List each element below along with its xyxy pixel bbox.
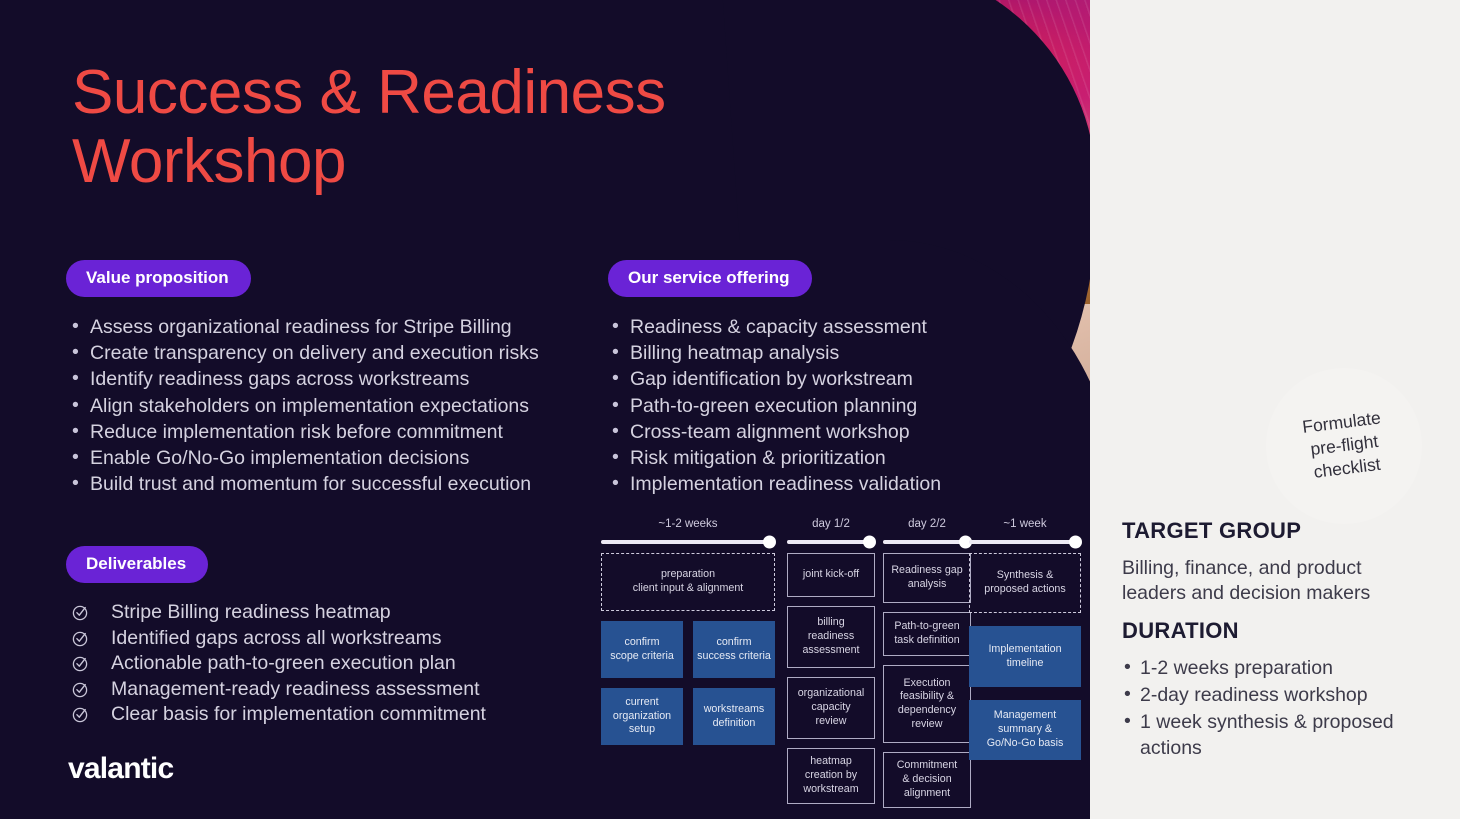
timeline-outline-box: Executionfeasibility &dependencyreview <box>883 665 971 743</box>
list-item: Risk mitigation & prioritization <box>612 445 941 471</box>
target-group-heading: TARGET GROUP <box>1122 518 1301 544</box>
timeline-dashed-box: Synthesis &proposed actions <box>969 553 1081 613</box>
timeline-outline-box: billingreadinessassessment <box>787 606 875 668</box>
timeline-column-body: Readiness gapanalysisPath-to-greentask d… <box>883 553 971 808</box>
timeline-box-label: Implementationtimeline <box>988 643 1061 670</box>
timeline-column-body: joint kick-offbillingreadinessassessment… <box>787 553 875 804</box>
list-item-label: Identified gaps across all workstreams <box>111 627 442 650</box>
timeline-filled-box: confirmsuccess criteria <box>693 621 775 678</box>
list-item: Billing heatmap analysis <box>612 340 941 366</box>
page-title-line-1: Success & Readiness <box>72 58 772 127</box>
timeline-column: day 1/2joint kick-offbillingreadinessass… <box>787 518 875 804</box>
timeline-outline-box: joint kick-off <box>787 553 875 597</box>
timeline-filled-box: confirmscope criteria <box>601 621 683 678</box>
timeline-box-label: heatmapcreation byworkstream <box>803 755 858 796</box>
check-circle-icon <box>72 630 89 647</box>
timeline-box-label: workstreamsdefinition <box>704 703 765 730</box>
timeline-box-label: Executionfeasibility &dependencyreview <box>898 677 956 732</box>
timeline-box-label: Readiness gapanalysis <box>891 564 962 591</box>
list-item: Management-ready readiness assessment <box>72 677 486 703</box>
check-circle-icon <box>72 706 89 723</box>
timeline-outline-box: Readiness gapanalysis <box>883 553 971 603</box>
timeline-phase-label: day 1/2 <box>787 518 875 534</box>
timeline-box-label: currentorganizationsetup <box>613 696 671 737</box>
timeline-outline-box: Path-to-greentask definition <box>883 612 971 656</box>
timeline-column: day 2/2Readiness gapanalysisPath-to-gree… <box>883 518 971 808</box>
list-item: Align stakeholders on implementation exp… <box>72 393 539 419</box>
list-item: Stripe Billing readiness heatmap <box>72 600 486 626</box>
list-item: Enable Go/No-Go implementation decisions <box>72 445 539 471</box>
timeline-filled-box: currentorganizationsetup <box>601 688 683 745</box>
timeline-milestone-dot <box>1069 536 1082 549</box>
duration-list: 1-2 weeks preparation2-day readiness wor… <box>1122 656 1422 763</box>
list-item: Readiness & capacity assessment <box>612 314 941 340</box>
timeline-diagram: ~1-2 weekspreparationclient input & alig… <box>601 518 1081 803</box>
timeline-phase-label: ~1-2 weeks <box>601 518 775 534</box>
deliverables-list: Stripe Billing readiness heatmapIdentifi… <box>72 600 486 728</box>
list-item-label: Stripe Billing readiness heatmap <box>111 601 391 624</box>
timeline-filled-box: workstreamsdefinition <box>693 688 775 745</box>
timeline-dashed-box: preparationclient input & alignment <box>601 553 775 611</box>
list-item: Implementation readiness validation <box>612 471 941 497</box>
timeline-outline-box: organizationalcapacityreview <box>787 677 875 739</box>
timeline-box-grid: confirmscope criteriaconfirmsuccess crit… <box>601 621 775 745</box>
list-item: 1 week synthesis & proposed actions <box>1122 710 1422 762</box>
timeline-box-label: confirmsuccess criteria <box>697 636 771 663</box>
list-item: Identified gaps across all workstreams <box>72 626 486 652</box>
page-title: Success & Readiness Workshop <box>72 58 772 197</box>
list-item: 2-day readiness workshop <box>1122 683 1422 709</box>
timeline-bar <box>969 540 1081 544</box>
timeline-box-label: Synthesis &proposed actions <box>984 569 1065 596</box>
duration-heading: DURATION <box>1122 618 1239 644</box>
list-item-label: Actionable path-to-green execution plan <box>111 652 456 675</box>
check-circle-icon <box>72 604 89 621</box>
list-item: Assess organizational readiness for Stri… <box>72 314 539 340</box>
list-item: Path-to-green execution planning <box>612 393 941 419</box>
target-group-text: Billing, finance, and product leaders an… <box>1122 556 1422 605</box>
timeline-bar <box>883 540 971 544</box>
list-item: Clear basis for implementation commitmen… <box>72 702 486 728</box>
list-item: Actionable path-to-green execution plan <box>72 651 486 677</box>
timeline-box-label: Managementsummary &Go/No-Go basis <box>987 709 1064 750</box>
deliverables-pill: Deliverables <box>66 546 208 583</box>
list-item: Build trust and momentum for successful … <box>72 471 539 497</box>
timeline-filled-box: Implementationtimeline <box>969 626 1081 687</box>
list-item-label: Management-ready readiness assessment <box>111 678 480 701</box>
list-item: Cross-team alignment workshop <box>612 419 941 445</box>
timeline-outline-box: heatmapcreation byworkstream <box>787 748 875 804</box>
timeline-bar <box>601 540 775 544</box>
timeline-phase-label: day 2/2 <box>883 518 971 534</box>
list-item: Reduce implementation risk before commit… <box>72 419 539 445</box>
valantic-logo: valantic <box>68 752 173 786</box>
timeline-box-label: billingreadinessassessment <box>802 616 859 657</box>
timeline-box-label: confirmscope criteria <box>610 636 674 663</box>
check-circle-icon <box>72 681 89 698</box>
list-item: Create transparency on delivery and exec… <box>72 340 539 366</box>
timeline-box-label: preparationclient input & alignment <box>633 568 744 595</box>
timeline-filled-box: Managementsummary &Go/No-Go basis <box>969 700 1081 760</box>
pre-flight-checklist-badge-text: Formulatepre-flightchecklist <box>1301 407 1388 485</box>
timeline-box-label: organizationalcapacityreview <box>798 687 865 728</box>
timeline-phase-label: ~1 week <box>969 518 1081 534</box>
timeline-outline-box: Commitment& decisionalignment <box>883 752 971 808</box>
pre-flight-checklist-badge: Formulatepre-flightchecklist <box>1266 368 1422 524</box>
timeline-column-body: preparationclient input & alignmentconfi… <box>601 553 775 745</box>
page-title-line-2: Workshop <box>72 127 772 196</box>
timeline-milestone-dot <box>763 536 776 549</box>
service-offering-list: Readiness & capacity assessmentBilling h… <box>612 314 941 498</box>
timeline-box-label: Commitment& decisionalignment <box>897 759 958 800</box>
timeline-column: ~1 weekSynthesis &proposed actionsImplem… <box>969 518 1081 760</box>
timeline-column: ~1-2 weekspreparationclient input & alig… <box>601 518 775 745</box>
timeline-box-label: Path-to-greentask definition <box>894 620 959 647</box>
timeline-box-label: joint kick-off <box>803 568 859 582</box>
timeline-bar <box>787 540 875 544</box>
timeline-column-body: Synthesis &proposed actionsImplementatio… <box>969 553 1081 760</box>
value-proposition-list: Assess organizational readiness for Stri… <box>72 314 539 498</box>
value-proposition-pill: Value proposition <box>66 260 251 297</box>
list-item: 1-2 weeks preparation <box>1122 656 1422 682</box>
timeline-milestone-dot <box>863 536 876 549</box>
list-item-label: Clear basis for implementation commitmen… <box>111 703 486 726</box>
service-offering-pill: Our service offering <box>608 260 812 297</box>
slide-root: Success & Readiness Workshop Value propo… <box>0 0 1460 819</box>
check-circle-icon <box>72 655 89 672</box>
list-item: Identify readiness gaps across workstrea… <box>72 366 539 392</box>
list-item: Gap identification by workstream <box>612 366 941 392</box>
